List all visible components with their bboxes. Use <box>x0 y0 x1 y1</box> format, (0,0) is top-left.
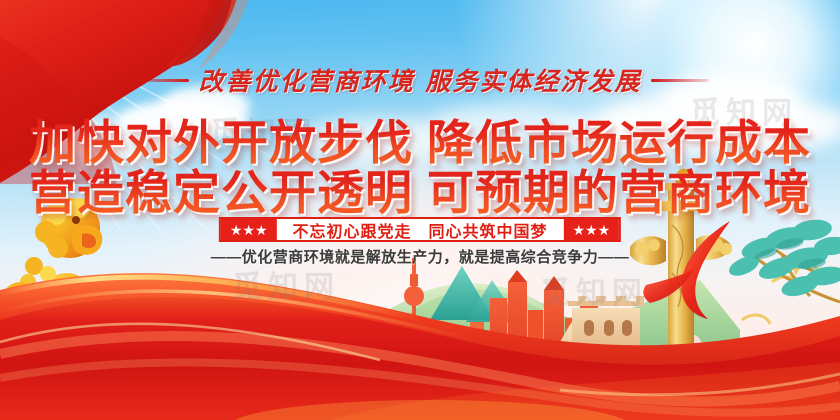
text-content: 觅知网 觅知网 觅知网 觅知网 改善优化营商环境 服务实体经济发展 加快对外开放… <box>0 0 840 420</box>
watermark: 觅知网 <box>540 268 648 312</box>
slogan-bar: ★★★ 不忘初心跟党走 同心共筑中国梦 ★★★ <box>219 217 621 242</box>
watermark: 觅知网 <box>232 262 340 306</box>
stars-left: ★★★ <box>221 219 277 240</box>
subtitle-row: 改善优化营商环境 服务实体经济发展 <box>0 62 840 98</box>
banner-subtitle: 改善优化营商环境 服务实体经济发展 <box>199 62 642 98</box>
propaganda-banner: 觅知网 觅知网 觅知网 觅知网 改善优化营商环境 服务实体经济发展 加快对外开放… <box>0 0 840 420</box>
right-dash-decoration <box>651 79 709 82</box>
bottom-tagline: ——优化营商环境就是解放生产力，就是提高综合竞争力—— <box>0 246 840 267</box>
left-dash-decoration <box>131 79 189 82</box>
slogan-text: 不忘初心跟党走 同心共筑中国梦 <box>276 219 563 240</box>
stars-right: ★★★ <box>564 219 620 240</box>
headline-line-2: 营造稳定公开透明 可预期的营商环境 <box>0 154 840 223</box>
